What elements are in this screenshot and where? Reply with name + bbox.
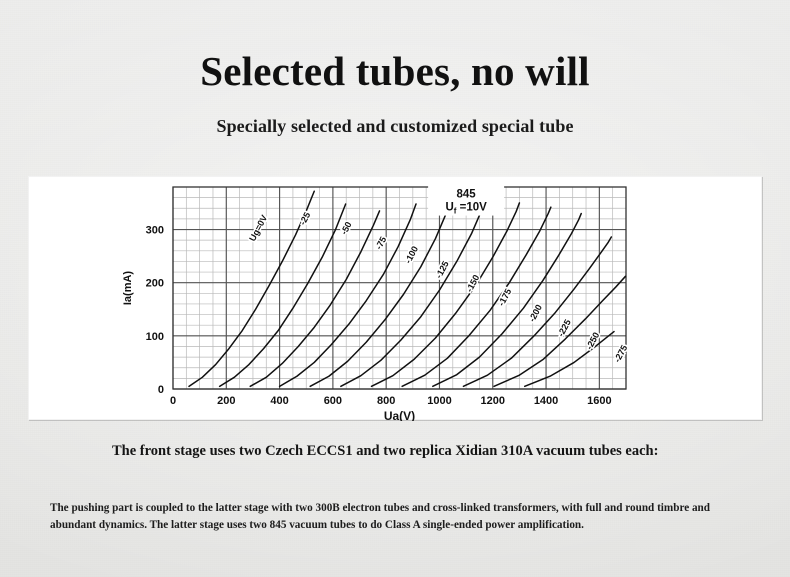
x-tick-label: 1200: [481, 395, 505, 407]
x-tick-label: 400: [270, 395, 288, 407]
x-tick-label: 200: [217, 395, 235, 407]
body-lead-paragraph: The front stage uses two Czech ECCS1 and…: [112, 441, 692, 462]
tube-characteristic-chart: Ug=0VUg=0V-25-25-50-50-75-75-100-100-125…: [29, 177, 763, 421]
y-tick-label: 200: [146, 278, 164, 290]
chart-annotation-title: 845: [457, 189, 477, 201]
page-title: Selected tubes, no will: [0, 48, 790, 95]
chart-card: Ug=0VUg=0V-25-25-50-50-75-75-100-100-125…: [28, 176, 762, 420]
y-tick-label: 0: [158, 384, 164, 396]
y-tick-label: 100: [146, 331, 164, 343]
x-tick-label: 0: [170, 395, 176, 407]
chart-svg: Ug=0VUg=0V-25-25-50-50-75-75-100-100-125…: [29, 177, 763, 421]
x-axis-label: Ua(V): [384, 409, 415, 421]
x-tick-label: 800: [377, 395, 395, 407]
x-tick-label: 1400: [534, 395, 558, 407]
x-tick-labels: 02004006008001000120014001600: [170, 395, 612, 407]
x-tick-label: 600: [324, 395, 342, 407]
y-axis-label: Ia(mA): [122, 271, 134, 306]
y-tick-labels: 0100200300: [146, 225, 164, 396]
x-tick-label: 1600: [587, 395, 611, 407]
chart-annotation-uf: Uf =10V: [445, 202, 487, 216]
page-subtitle: Specially selected and customized specia…: [0, 116, 790, 137]
body-paragraph: The pushing part is coupled to the latte…: [50, 500, 710, 535]
x-tick-label: 1000: [427, 395, 451, 407]
chart-annotation: 845Uf =10V: [428, 186, 504, 216]
y-tick-label: 300: [146, 225, 164, 237]
